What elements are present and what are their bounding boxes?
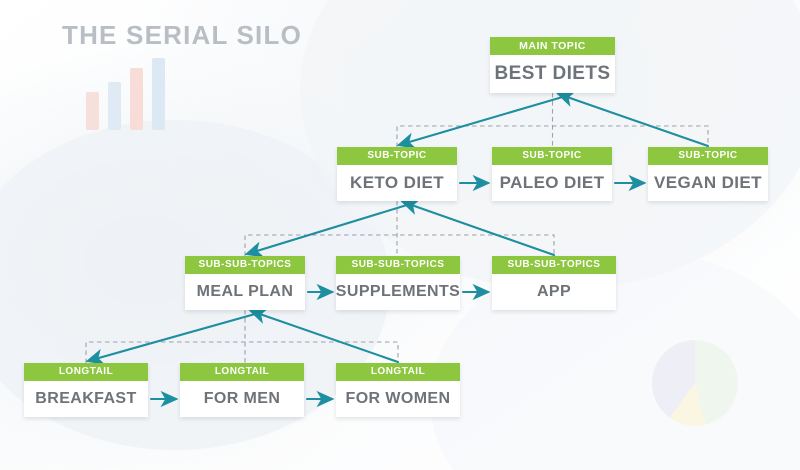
arrow-meal-plan-to-breakfast — [88, 314, 255, 361]
node-caption-app: SUB-SUB-TOPICS — [492, 256, 616, 274]
node-supplements[interactable]: SUB-SUB-TOPICSSUPPLEMENTS — [336, 256, 460, 310]
node-vegan-diet[interactable]: SUB-TOPICVEGAN DIET — [648, 147, 768, 201]
node-label-breakfast: BREAKFAST — [24, 381, 148, 417]
arrow-best-diets-to-keto-diet — [399, 97, 563, 145]
node-label-for-women: FOR WOMEN — [336, 381, 460, 417]
node-label-vegan-diet: VEGAN DIET — [648, 165, 768, 201]
node-caption-meal-plan: SUB-SUB-TOPICS — [185, 256, 305, 274]
dashed-bracket-group — [86, 93, 708, 363]
node-label-paleo-diet: PALEO DIET — [492, 165, 612, 201]
node-caption-breakfast: LONGTAIL — [24, 363, 148, 381]
node-for-men[interactable]: LONGTAILFOR MEN — [180, 363, 304, 417]
node-breakfast[interactable]: LONGTAILBREAKFAST — [24, 363, 148, 417]
diagram-canvas: THE SERIAL SILO MAIN TOPICBEST DIETSSUB-… — [0, 0, 800, 470]
arrow-for-women-to-meal-plan — [251, 311, 398, 362]
node-label-meal-plan: MEAL PLAN — [185, 274, 305, 310]
node-caption-keto-diet: SUB-TOPIC — [337, 147, 457, 165]
node-caption-supplements: SUB-SUB-TOPICS — [336, 256, 460, 274]
node-caption-best-diets: MAIN TOPIC — [490, 37, 615, 55]
node-meal-plan[interactable]: SUB-SUB-TOPICSMEAL PLAN — [185, 256, 305, 310]
arrow-keto-diet-to-meal-plan — [247, 205, 407, 254]
node-label-keto-diet: KETO DIET — [337, 165, 457, 201]
node-label-best-diets: BEST DIETS — [490, 55, 615, 93]
node-keto-diet[interactable]: SUB-TOPICKETO DIET — [337, 147, 457, 201]
node-app[interactable]: SUB-SUB-TOPICSAPP — [492, 256, 616, 310]
node-caption-for-men: LONGTAIL — [180, 363, 304, 381]
node-caption-vegan-diet: SUB-TOPIC — [648, 147, 768, 165]
node-paleo-diet[interactable]: SUB-TOPICPALEO DIET — [492, 147, 612, 201]
node-label-supplements: SUPPLEMENTS — [336, 274, 460, 310]
node-label-for-men: FOR MEN — [180, 381, 304, 417]
node-caption-paleo-diet: SUB-TOPIC — [492, 147, 612, 165]
arrow-app-to-keto-diet — [403, 202, 554, 255]
arrow-vegan-diet-to-best-diets — [559, 94, 709, 146]
node-caption-for-women: LONGTAIL — [336, 363, 460, 381]
node-label-app: APP — [492, 274, 616, 310]
node-best-diets[interactable]: MAIN TOPICBEST DIETS — [490, 37, 615, 93]
node-for-women[interactable]: LONGTAILFOR WOMEN — [336, 363, 460, 417]
